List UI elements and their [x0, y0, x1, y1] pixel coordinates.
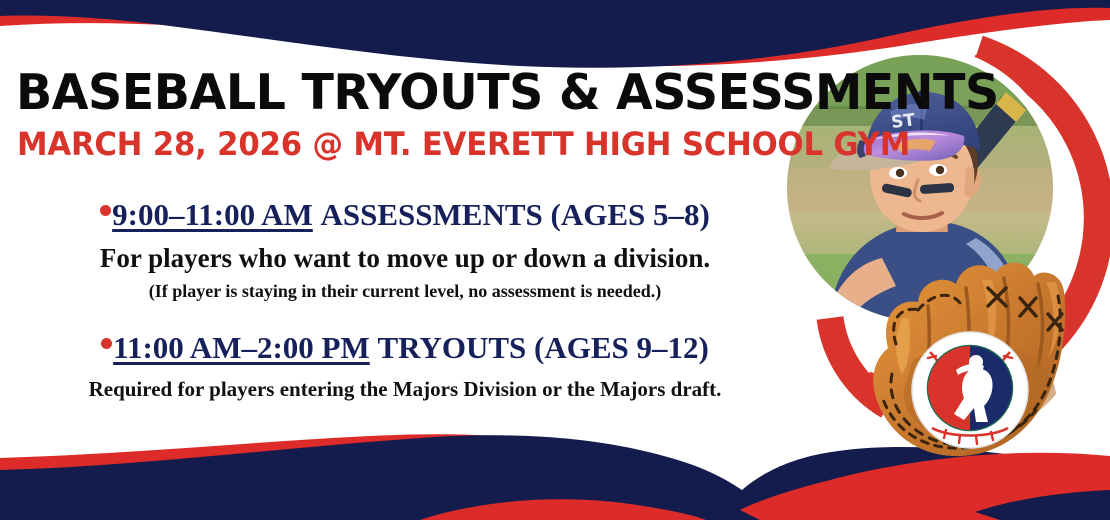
bottom-wave-navy-tail	[975, 490, 1110, 520]
session-description: For players who want to move up or down …	[0, 243, 810, 274]
session-note: (If player is staying in their current l…	[0, 281, 810, 302]
session-description: Required for players entering the Majors…	[0, 377, 810, 401]
session-heading: 11:00 AM–2:00 PM TRYOUTS (AGES 9–12)	[0, 331, 810, 366]
league-logo-baseball	[912, 332, 1028, 448]
player-eye-right	[936, 166, 944, 174]
session-title: TRYOUTS (AGES 9–12)	[377, 330, 708, 365]
session-title: ASSESSMENTS (AGES 5–8)	[321, 197, 710, 232]
banner-text-content: BASEBALL TRYOUTS & ASSESSMENTS MARCH 28,…	[0, 0, 810, 520]
event-date-venue: MARCH 28, 2026 @ MT. EVERETT HIGH SCHOOL…	[17, 128, 910, 160]
session-time-range: 9:00–11:00 AM	[112, 197, 313, 232]
bullet-dot-icon	[101, 338, 112, 349]
bullet-dot-icon	[100, 205, 111, 216]
session-heading: 9:00–11:00 AM ASSESSMENTS (AGES 5–8)	[0, 198, 810, 233]
session-block-tryouts: 11:00 AM–2:00 PM TRYOUTS (AGES 9–12) Req…	[0, 331, 810, 401]
baseball-tryouts-banner: ST	[0, 0, 1110, 520]
session-block-assessments: 9:00–11:00 AM ASSESSMENTS (AGES 5–8) For…	[0, 198, 810, 301]
page-title: BASEBALL TRYOUTS & ASSESSMENTS	[16, 68, 999, 117]
session-time-range: 11:00 AM–2:00 PM	[113, 330, 370, 365]
player-eye-left	[896, 169, 904, 177]
